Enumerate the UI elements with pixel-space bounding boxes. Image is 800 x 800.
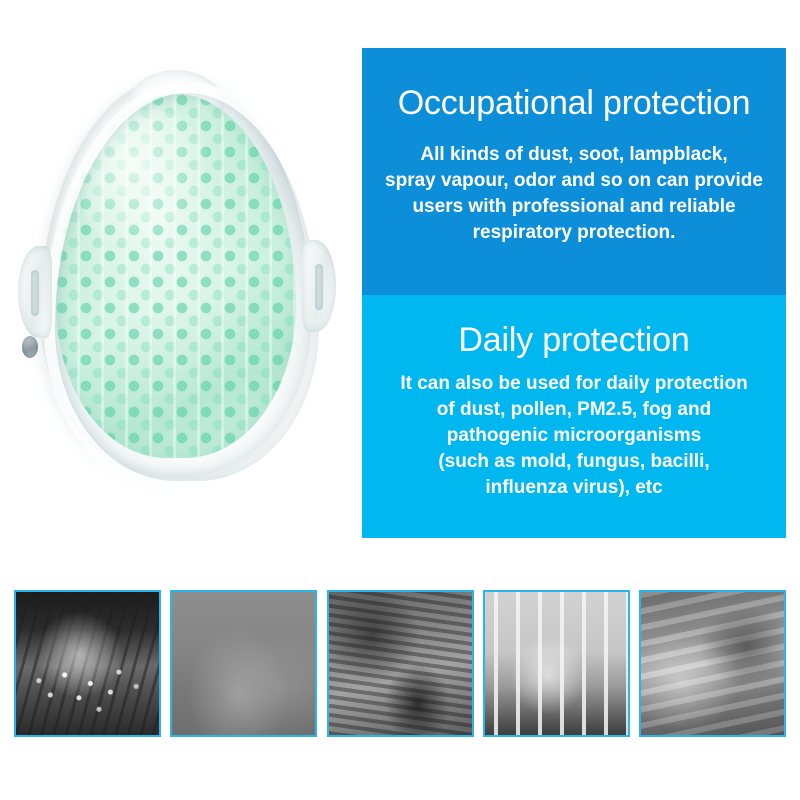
usage-scenario-photo-strip bbox=[14, 590, 786, 737]
strap-slot-icon bbox=[315, 264, 323, 310]
occupational-body-line: spray vapour, odor and so on can provide bbox=[376, 168, 772, 194]
occupational-body-line: All kinds of dust, soot, lampblack, bbox=[376, 142, 772, 168]
daily-body-line: (such as mold, fungus, bacilli, bbox=[376, 449, 772, 475]
occupational-body: All kinds of dust, soot, lampblack, spra… bbox=[362, 142, 786, 246]
daily-body-line: It can also be used for daily protection bbox=[376, 371, 772, 397]
welding-metalwork-photo bbox=[327, 590, 474, 737]
strap-slot-icon bbox=[31, 270, 39, 316]
traffic-exhaust-image bbox=[641, 592, 784, 735]
daily-body-line: of dust, pollen, PM2.5, fog and bbox=[376, 397, 772, 423]
mask-side-valve bbox=[22, 336, 38, 358]
foundry-sparks-image bbox=[16, 592, 159, 735]
traffic-exhaust-photo bbox=[639, 590, 786, 737]
daily-body-line: pathogenic microorganisms bbox=[376, 423, 772, 449]
daily-body: It can also be used for daily protection… bbox=[362, 371, 786, 501]
feature-panels: Occupational protection All kinds of dus… bbox=[362, 48, 786, 538]
occupational-body-line: users with professional and reliable bbox=[376, 194, 772, 220]
refinery-plant-photo bbox=[483, 590, 630, 737]
panel-daily-protection: Daily protection It can also be used for… bbox=[362, 295, 786, 538]
fog-smog-image bbox=[172, 592, 315, 735]
foundry-sparks-photo bbox=[14, 590, 161, 737]
mask-strap-clip-left bbox=[18, 246, 52, 338]
refinery-plant-image bbox=[485, 592, 628, 735]
mask-vertical-ribs bbox=[56, 94, 296, 458]
daily-body-line: influenza virus), etc bbox=[376, 475, 772, 501]
fog-smog-photo bbox=[170, 590, 317, 737]
mask-strap-clip-right bbox=[302, 240, 336, 332]
welding-metalwork-image bbox=[329, 592, 472, 735]
daily-heading: Daily protection bbox=[362, 321, 786, 359]
occupational-heading: Occupational protection bbox=[362, 84, 786, 122]
occupational-body-line: respiratory protection. bbox=[376, 220, 772, 246]
respirator-mask-product bbox=[22, 68, 332, 488]
product-image-area bbox=[0, 40, 352, 540]
panel-occupational-protection: Occupational protection All kinds of dus… bbox=[362, 48, 786, 295]
mask-filter-pad bbox=[56, 94, 296, 458]
